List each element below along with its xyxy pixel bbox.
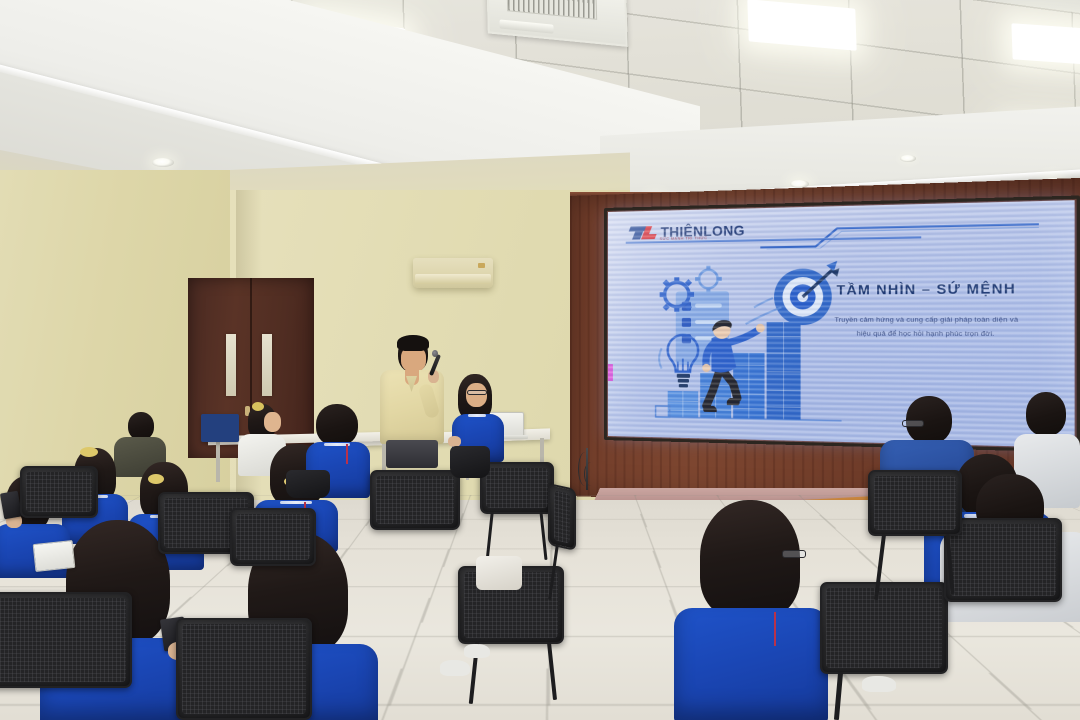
glasses-icon [902,420,924,427]
glasses-icon [467,390,487,395]
training-room-photo: THIÊNLONG SỨC MẠNH TRI THỨC [0,0,1080,720]
slide-accent-marker [608,364,613,381]
cassette-grille [506,0,597,20]
ac-vent [415,274,491,284]
bag [286,470,330,498]
shoe [862,676,896,692]
wall-ac-unit-icon [413,258,493,288]
hair-tie [148,474,164,484]
shoe [464,644,490,658]
hair-tie [252,402,264,411]
door-glass-pane [226,334,236,396]
thienlong-logo-icon [630,225,656,241]
shoe [440,660,470,676]
slide-body: Truyền cảm hứng và cung cấp giải pháp to… [803,314,1053,342]
ac-indicator [478,263,485,268]
laptop-screen[interactable] [33,540,76,572]
audience-member [678,500,824,720]
ceiling-panel-light [1011,23,1080,65]
white-garment [476,556,522,590]
uniform-shirt [674,608,828,720]
presenter-hair [397,335,429,351]
table-leg [216,442,220,482]
downlight-icon [152,158,174,167]
logo-tagline: SỨC MẠNH TRI THỨC [660,236,708,241]
downlight-icon [900,155,916,162]
door-glass-pane [262,334,272,396]
lanyard [774,612,776,646]
led-video-wall[interactable]: THIÊNLONG SỨC MẠNH TRI THỨC [608,200,1075,448]
hair [700,500,800,618]
head [1026,392,1066,436]
lanyard [346,444,348,464]
mic-stand [586,448,588,490]
cassette-vent [499,19,553,33]
head [316,404,358,446]
header-swoosh-decoration [760,221,1039,250]
presenter-trousers [386,440,438,468]
bag [450,446,490,478]
moderator-face [466,383,487,407]
slide-title: TẦM NHÌN – SỨ MỆNH [809,280,1046,298]
slide-body-line: hiệu quả để học hỏi hạnh phúc trọn đời. [803,328,1053,342]
collar [280,501,312,504]
storage-crate [201,414,239,442]
presenter [378,336,448,466]
moderator-collar [468,414,486,417]
head [128,412,154,440]
glasses-icon [782,550,806,558]
slide-body-line: Truyền cảm hứng và cung cấp giải pháp to… [803,314,1053,328]
face [264,412,281,432]
microphone-head [432,350,438,357]
hair-tie [80,447,98,457]
